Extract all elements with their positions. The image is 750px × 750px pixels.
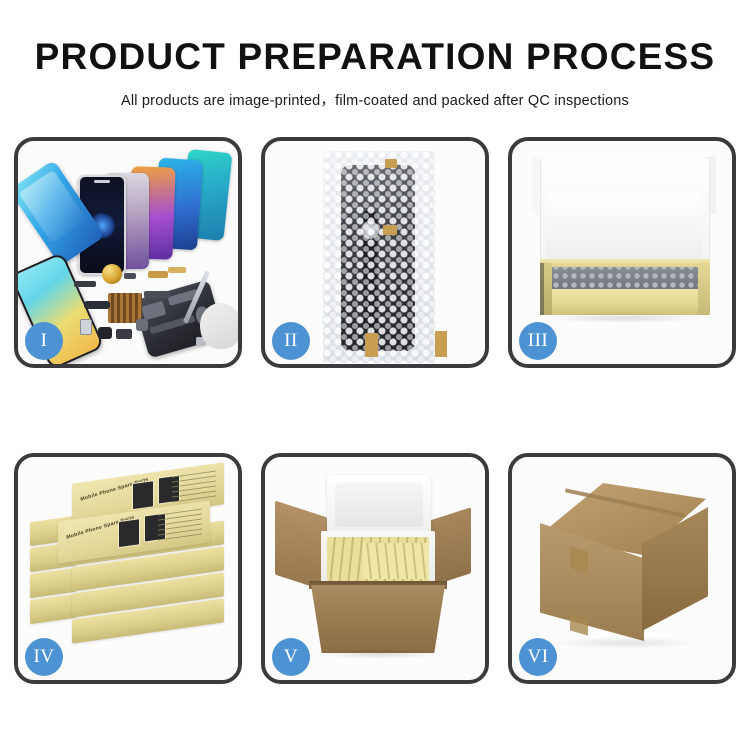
step-badge-4: IV (25, 638, 63, 676)
step-badge-6: VI (519, 638, 557, 676)
process-step-5[interactable]: V (261, 453, 489, 684)
process-step-1[interactable]: I (14, 137, 242, 368)
speaker-coil (102, 264, 122, 284)
process-step-3[interactable]: III (508, 137, 736, 368)
process-step-2[interactable]: II (261, 137, 489, 368)
step-badge-3: III (519, 322, 557, 360)
step-badge-5: V (272, 638, 310, 676)
page-subtitle: All products are image-printed，film-coat… (0, 89, 750, 110)
step-badge-2: II (272, 322, 310, 360)
carton-front-wall (311, 585, 445, 653)
process-step-4[interactable]: Mobile Phone Spare Parts Mobile Phone Sp… (14, 453, 242, 684)
bubble-wrap-bag (323, 151, 435, 363)
yellow-box-front (540, 289, 710, 315)
page-title: PRODUCT PREPARATION PROCESS (0, 38, 750, 77)
page-header: PRODUCT PREPARATION PROCESS All products… (0, 0, 750, 110)
step-badge-1: I (25, 322, 63, 360)
process-step-grid: I II (14, 137, 736, 684)
process-step-6[interactable]: VI (508, 453, 736, 684)
foam-lid-open (327, 475, 431, 537)
phone-fan-group (78, 149, 238, 269)
